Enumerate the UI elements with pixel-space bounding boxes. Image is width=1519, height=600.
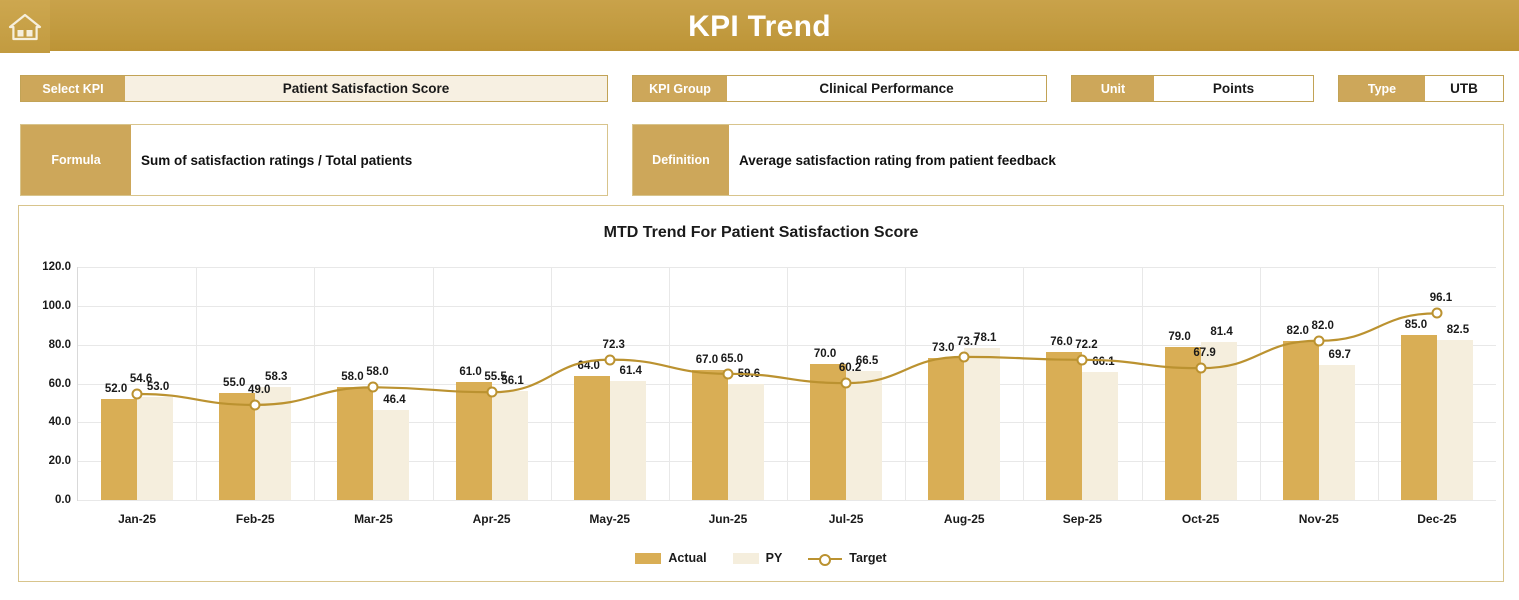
home-icon-glyph [8, 12, 42, 42]
info-row: Formula Sum of satisfaction ratings / To… [0, 124, 1519, 196]
x-axis-label: Dec-25 [1417, 512, 1456, 526]
chart-plot-area: 0.020.040.060.080.0100.0120.052.053.054.… [77, 267, 1496, 501]
x-axis-label: Oct-25 [1182, 512, 1219, 526]
x-axis-label: Sep-25 [1063, 512, 1102, 526]
y-axis-tick: 60.0 [49, 378, 71, 390]
formula-label: Formula [21, 125, 131, 195]
legend-swatch-actual-icon [635, 553, 661, 564]
x-axis-label: Nov-25 [1299, 512, 1339, 526]
filter-unit-label: Unit [1072, 76, 1154, 101]
legend-item-target[interactable]: Target [808, 551, 886, 565]
target-marker[interactable] [368, 382, 379, 393]
legend-swatch-py-icon [733, 553, 759, 564]
definition-label: Definition [633, 125, 729, 195]
app-header: KPI Trend [0, 0, 1519, 53]
x-axis-label: Feb-25 [236, 512, 275, 526]
x-axis-label: Jul-25 [829, 512, 864, 526]
chart-legend: ActualPYTarget [19, 551, 1503, 565]
y-axis-tick: 120.0 [42, 261, 71, 273]
legend-item-py[interactable]: PY [733, 551, 783, 565]
target-marker[interactable] [959, 351, 970, 362]
target-marker[interactable] [132, 389, 143, 400]
filter-unit-value[interactable]: Points [1154, 76, 1313, 101]
y-axis-tick: 80.0 [49, 339, 71, 351]
target-marker[interactable] [486, 387, 497, 398]
target-marker[interactable] [604, 354, 615, 365]
y-axis-tick: 40.0 [49, 416, 71, 428]
x-axis-label: Aug-25 [944, 512, 985, 526]
filter-bar: Select KPI Patient Satisfaction Score KP… [0, 62, 1519, 106]
formula-value: Sum of satisfaction ratings / Total pati… [131, 125, 607, 195]
filter-kpi-group-label: KPI Group [633, 76, 727, 101]
filter-type-value[interactable]: UTB [1425, 76, 1503, 101]
filter-type[interactable]: Type UTB [1338, 75, 1504, 102]
target-marker[interactable] [1077, 354, 1088, 365]
chart-title: MTD Trend For Patient Satisfaction Score [19, 224, 1503, 242]
target-marker[interactable] [722, 368, 733, 379]
filter-unit[interactable]: Unit Points [1071, 75, 1314, 102]
legend-label: Target [849, 551, 886, 565]
legend-item-actual[interactable]: Actual [635, 551, 706, 565]
definition-value: Average satisfaction rating from patient… [729, 125, 1503, 195]
filter-type-label: Type [1339, 76, 1425, 101]
y-axis-tick: 100.0 [42, 300, 71, 312]
filter-select-kpi-label: Select KPI [21, 76, 125, 101]
x-axis-label: Jun-25 [709, 512, 748, 526]
target-marker[interactable] [1313, 335, 1324, 346]
x-axis-label: Apr-25 [473, 512, 511, 526]
target-line [78, 267, 1496, 500]
y-axis-tick: 0.0 [55, 494, 71, 506]
target-marker[interactable] [250, 399, 261, 410]
formula-box: Formula Sum of satisfaction ratings / To… [20, 124, 608, 196]
x-axis-label: May-25 [589, 512, 630, 526]
target-marker[interactable] [1431, 308, 1442, 319]
target-marker[interactable] [1195, 363, 1206, 374]
x-axis-label: Mar-25 [354, 512, 393, 526]
filter-select-kpi[interactable]: Select KPI Patient Satisfaction Score [20, 75, 608, 102]
definition-box: Definition Average satisfaction rating f… [632, 124, 1504, 196]
filter-kpi-group-value[interactable]: Clinical Performance [727, 76, 1046, 101]
legend-label: Actual [668, 551, 706, 565]
legend-label: PY [766, 551, 783, 565]
filter-select-kpi-value[interactable]: Patient Satisfaction Score [125, 76, 607, 101]
legend-swatch-target-icon [808, 553, 842, 564]
kpi-trend-dashboard: KPI Trend Select KPI Patient Satisfactio… [0, 0, 1519, 600]
x-axis-label: Jan-25 [118, 512, 156, 526]
target-marker[interactable] [841, 378, 852, 389]
y-axis-tick: 20.0 [49, 455, 71, 467]
grid-line [78, 500, 1496, 501]
home-icon[interactable] [0, 0, 50, 53]
filter-kpi-group[interactable]: KPI Group Clinical Performance [632, 75, 1047, 102]
chart-panel: MTD Trend For Patient Satisfaction Score… [18, 205, 1504, 582]
page-title: KPI Trend [0, 0, 1519, 53]
